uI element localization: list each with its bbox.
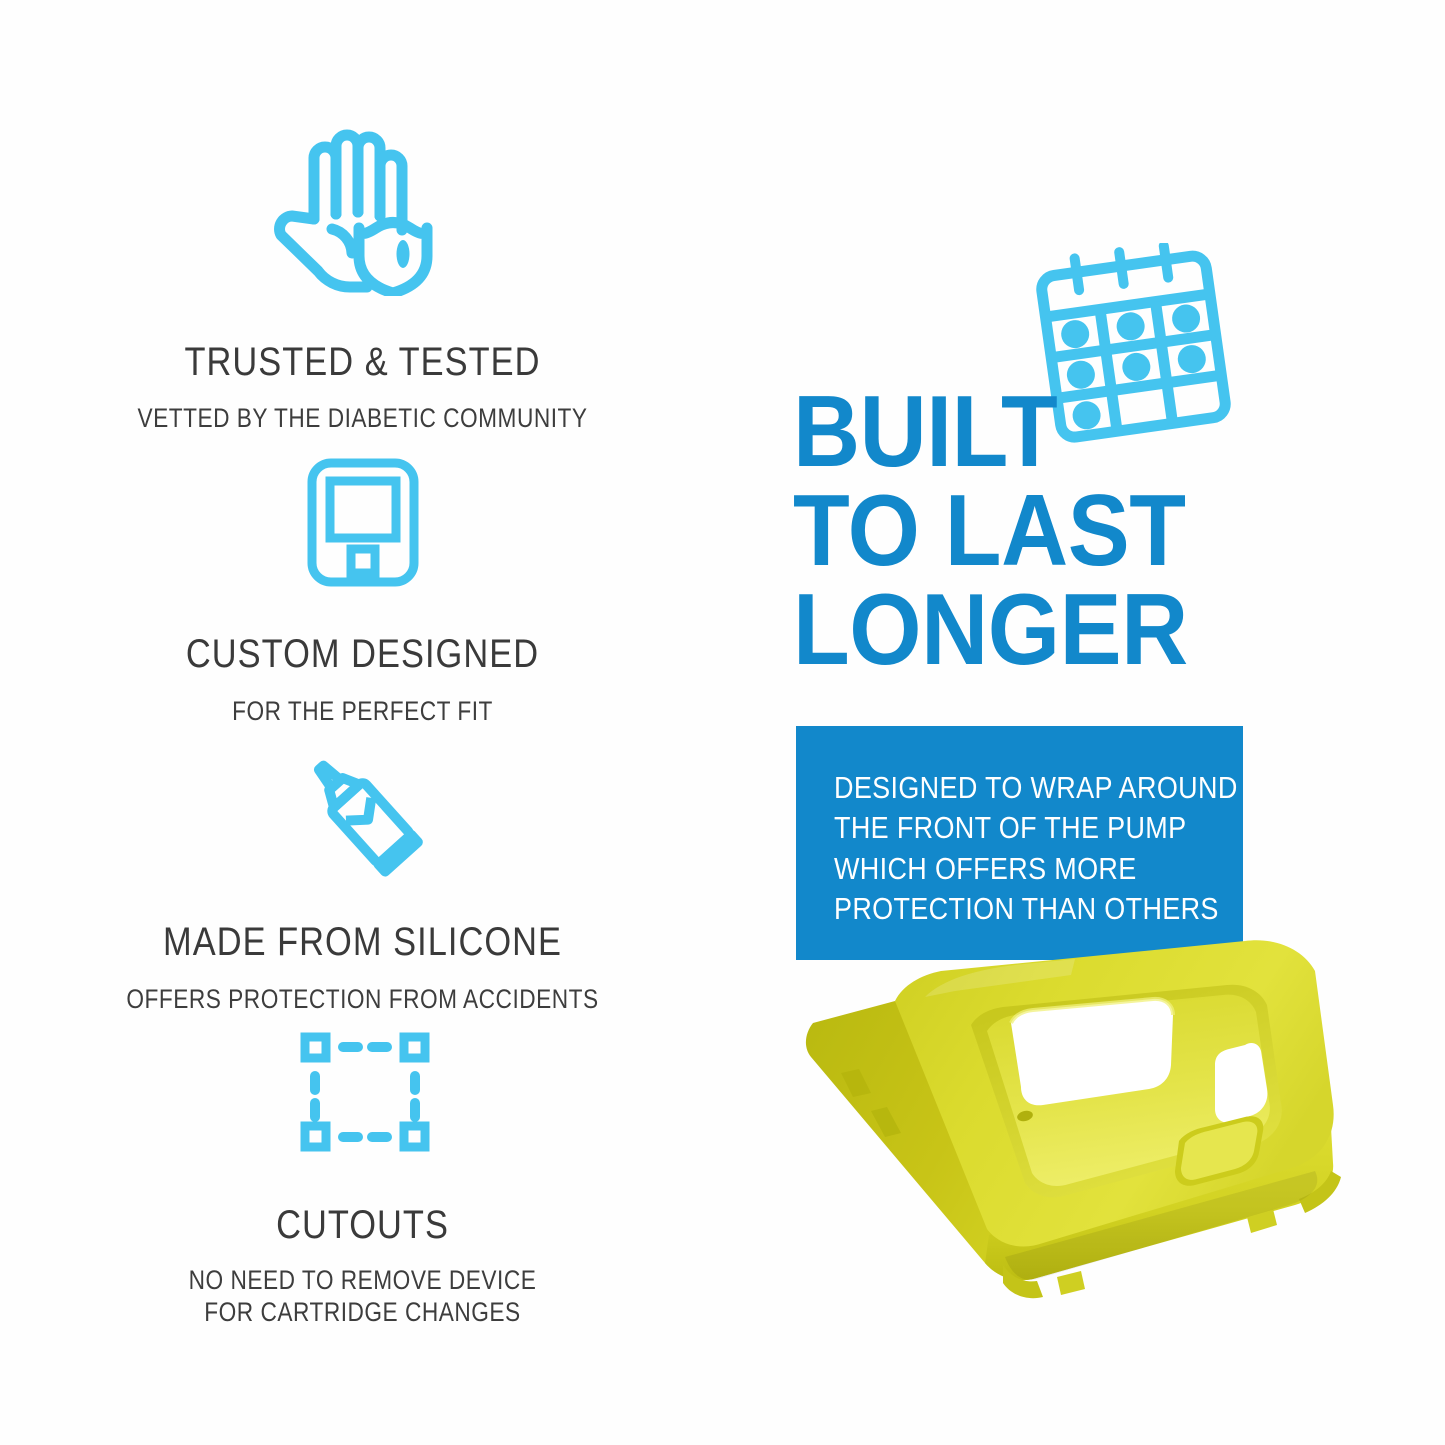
- insulin-pump-device-icon: [0, 455, 725, 590]
- callout-line-3: WHICH OFFERS MORE: [834, 849, 1238, 889]
- headline-line-1: BUILT: [793, 383, 1225, 482]
- hand-shield-icon: [0, 126, 725, 296]
- headline-line-2: TO LAST: [793, 482, 1225, 581]
- feature-item-trusted-tested: TRUSTED & TESTED VETTED BY THE DIABETIC …: [0, 126, 725, 435]
- headline-line-3: LONGER: [793, 581, 1225, 680]
- cutout-selection-icon: [0, 1020, 725, 1160]
- feature-list: TRUSTED & TESTED VETTED BY THE DIABETIC …: [0, 0, 725, 1445]
- feature-title: CUTOUTS: [51, 1203, 675, 1248]
- feature-title: CUSTOM DESIGNED: [51, 632, 675, 677]
- feature-subtitle: VETTED BY THE DIABETIC COMMUNITY: [58, 403, 667, 435]
- feature-subtitle: NO NEED TO REMOVE DEVICE FOR CARTRIDGE C…: [58, 1265, 667, 1329]
- infographic-canvas: TRUSTED & TESTED VETTED BY THE DIABETIC …: [0, 0, 1445, 1445]
- feature-subtitle-line-2: FOR CARTRIDGE CHANGES: [58, 1297, 667, 1329]
- callout-line-2: THE FRONT OF THE PUMP: [834, 808, 1238, 848]
- headline: BUILT TO LAST LONGER: [793, 383, 1263, 680]
- callout-line-1: DESIGNED TO WRAP AROUND: [834, 768, 1238, 808]
- feature-item-made-from-silicone: MADE FROM SILICONE OFFERS PROTECTION FRO…: [0, 748, 725, 1016]
- feature-title: TRUSTED & TESTED: [51, 340, 675, 385]
- yellow-silicone-pump-case-photo: [775, 905, 1365, 1325]
- silicone-tube-icon: [0, 748, 725, 878]
- feature-item-custom-designed: CUSTOM DESIGNED FOR THE PERFECT FIT: [0, 455, 725, 728]
- feature-subtitle: OFFERS PROTECTION FROM ACCIDENTS: [58, 984, 667, 1016]
- feature-title: MADE FROM SILICONE: [51, 920, 675, 965]
- feature-subtitle-line-1: NO NEED TO REMOVE DEVICE: [189, 1265, 537, 1295]
- feature-subtitle: FOR THE PERFECT FIT: [58, 696, 667, 728]
- feature-item-cutouts: CUTOUTS NO NEED TO REMOVE DEVICE FOR CAR…: [0, 1020, 725, 1329]
